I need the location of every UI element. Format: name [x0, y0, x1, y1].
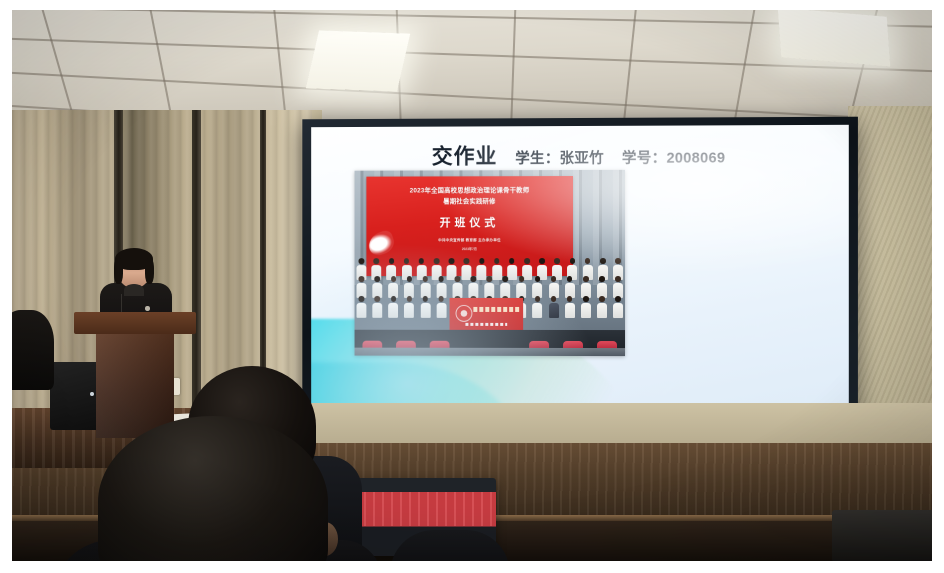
lecture-hall-scene: 交作业 学生：张亚竹 学号：2008069 2023年全国高校思想政治理论课骨干…	[12, 10, 932, 561]
ceiling-light-panel	[778, 10, 891, 67]
slide-group-photo[interactable]: 2023年全国高校思想政治理论课骨干教师 暑期社会实践研修 开班仪式 中共中央宣…	[355, 170, 625, 356]
ceiling-light-panel	[306, 30, 411, 91]
slide-title: 交作业	[432, 140, 498, 170]
slide-student-name: 学生：张亚竹	[515, 147, 604, 168]
banner-line-1: 2023年全国高校思想政治理论课骨干教师	[366, 185, 573, 195]
flag-department-text	[465, 322, 507, 326]
banner-line-3: 开班仪式	[366, 214, 573, 230]
lapel-pin-icon	[145, 306, 150, 311]
slide-student-id: 学号：2008069	[622, 146, 725, 167]
presentation-slide[interactable]: 交作业 学生：张亚竹 学号：2008069 2023年全国高校思想政治理论课骨干…	[311, 125, 849, 449]
podium-body	[96, 334, 174, 438]
chair	[832, 510, 932, 561]
slide-title-row: 交作业 学生：张亚竹 学号：2008069	[311, 139, 849, 171]
photo-university-flag	[450, 298, 524, 330]
audience-member-head	[12, 310, 54, 390]
banner-line-2: 暑期社会实践研修	[366, 196, 573, 205]
banner-line-4: 中共中央宣传部 教育部 主办承办单位	[366, 238, 573, 243]
photograph-frame: 交作业 学生：张亚竹 学号：2008069 2023年全国高校思想政治理论课骨干…	[0, 0, 944, 573]
banner-line-5: 2023年7月	[366, 246, 573, 251]
stage-back-strip	[242, 403, 932, 443]
podium-top	[74, 312, 196, 334]
university-emblem-icon	[456, 305, 473, 322]
